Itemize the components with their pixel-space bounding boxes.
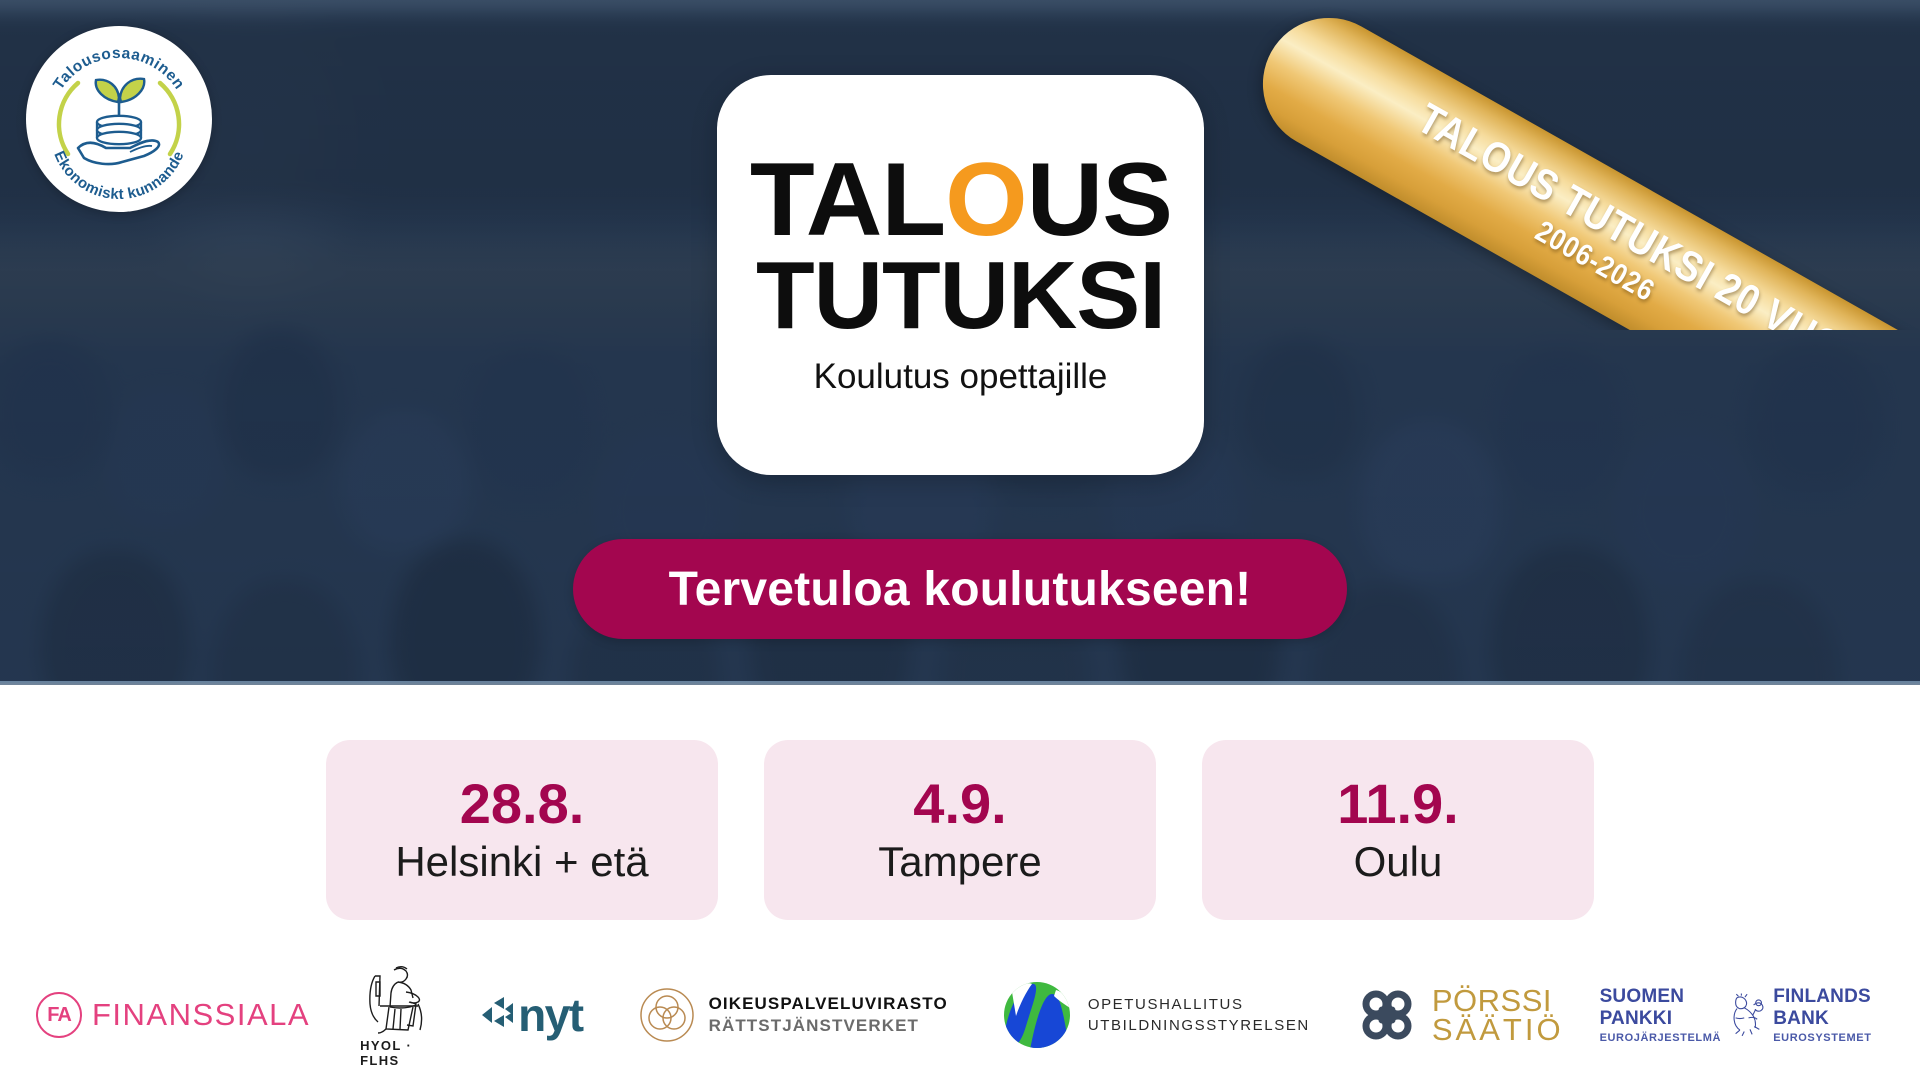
sponsor-oph-label-fi: OPETUSHALLITUS (1088, 996, 1310, 1013)
sponsor-pankki-sub-sv: EUROSYSTEMET (1773, 1032, 1887, 1044)
sponsor-pankki-sub-fi: EUROJÄRJESTELMÄ (1600, 1032, 1721, 1044)
sponsor-opetushallitus[interactable]: OPETUSHALLITUS UTBILDNINGSSTYRELSEN (1000, 978, 1310, 1052)
sponsor-pankki-label-sv: FINLANDS BANK (1773, 986, 1887, 1030)
seated-scholar-icon (360, 962, 432, 1036)
event-city: Helsinki + etä (395, 839, 648, 885)
blue-green-sphere-icon (1000, 978, 1074, 1052)
talous-tutuksi-logo-card: TALOUS TUTUKSI Koulutus opettajille (717, 75, 1204, 475)
plant-coins-hand-icon: Talousosaaminen Ekonomiskt kunnande (26, 26, 212, 212)
event-city: Oulu (1354, 839, 1443, 885)
clover-knot-icon (1354, 982, 1420, 1048)
sponsor-porssisaatio[interactable]: PÖRSSI SÄÄTIÖ (1354, 982, 1564, 1048)
event-date-card[interactable]: 4.9. Tampere (764, 740, 1156, 920)
event-date-card[interactable]: 28.8. Helsinki + etä (326, 740, 718, 920)
logo-talous-part2: US (1026, 142, 1171, 258)
sponsor-nyt-label: nyt (518, 988, 583, 1042)
badge-bottom-text: Ekonomiskt kunnande (50, 148, 187, 203)
sponsor-porssi-label-1: PÖRSSI (1432, 986, 1564, 1015)
sponsor-oikeus-label-sv: RÄTTSTJÄNSTVERKET (709, 1016, 948, 1036)
event-date: 11.9. (1337, 775, 1458, 834)
sponsor-oikeus-label-fi: OIKEUSPALVELUVIRASTO (709, 994, 948, 1014)
event-date: 28.8. (460, 775, 585, 834)
sponsor-oikeuspalveluvirasto[interactable]: OIKEUSPALVELUVIRASTO RÄTTSTJÄNSTVERKET (637, 985, 948, 1045)
talousosaaminen-badge: Talousosaaminen Ekonomiskt kunnande (26, 26, 212, 212)
logo-word-tutuksi: TUTUKSI (756, 250, 1165, 341)
welcome-banner-label: Tervetuloa koulutukseen! (669, 562, 1252, 617)
sponsor-suomen-pankki[interactable]: SUOMEN PANKKI EUROJÄRJESTELMÄ FINLANDS B… (1600, 985, 1888, 1045)
fa-monogram-icon: FA (36, 992, 82, 1038)
logo-word-talous: TALOUS (749, 153, 1171, 249)
trefoil-circle-icon (637, 985, 697, 1045)
event-date: 4.9. (913, 775, 1006, 834)
sponsor-porssi-label-2: SÄÄTIÖ (1432, 1015, 1564, 1044)
logo-talous-part1: TAL (749, 142, 944, 258)
sponsor-nyt[interactable]: nyt (480, 988, 583, 1042)
welcome-banner: Tervetuloa koulutukseen! (573, 539, 1347, 639)
svg-text:Talousosaaminen: Talousosaaminen (50, 45, 188, 93)
sponsor-logo-bar: FA FINANSSIALA HYOL · F (0, 950, 1920, 1080)
badge-top-text: Talousosaaminen (50, 45, 188, 93)
sponsor-pankki-label-fi: SUOMEN PANKKI (1600, 986, 1721, 1030)
sponsor-hyol-label: HYOL · FLHS (360, 1038, 432, 1068)
sponsor-finanssiala-label: FINANSSIALA (92, 997, 310, 1033)
svg-text:Ekonomiskt kunnande: Ekonomiskt kunnande (50, 148, 187, 203)
triangles-icon (480, 993, 514, 1037)
event-city: Tampere (878, 839, 1041, 885)
logo-talous-accent-o: O (945, 142, 1027, 258)
event-dates-row: 28.8. Helsinki + etä 4.9. Tampere 11.9. … (0, 740, 1920, 920)
sponsor-oph-label-sv: UTBILDNINGSSTYRELSEN (1088, 1017, 1310, 1034)
hero-bottom-edge (0, 681, 1920, 685)
finnish-lion-icon (1727, 985, 1767, 1045)
sponsor-hyol[interactable]: HYOL · FLHS (360, 962, 432, 1068)
event-date-card[interactable]: 11.9. Oulu (1202, 740, 1594, 920)
logo-subtitle: Koulutus opettajille (814, 357, 1108, 397)
sponsor-finanssiala[interactable]: FA FINANSSIALA (36, 992, 310, 1038)
